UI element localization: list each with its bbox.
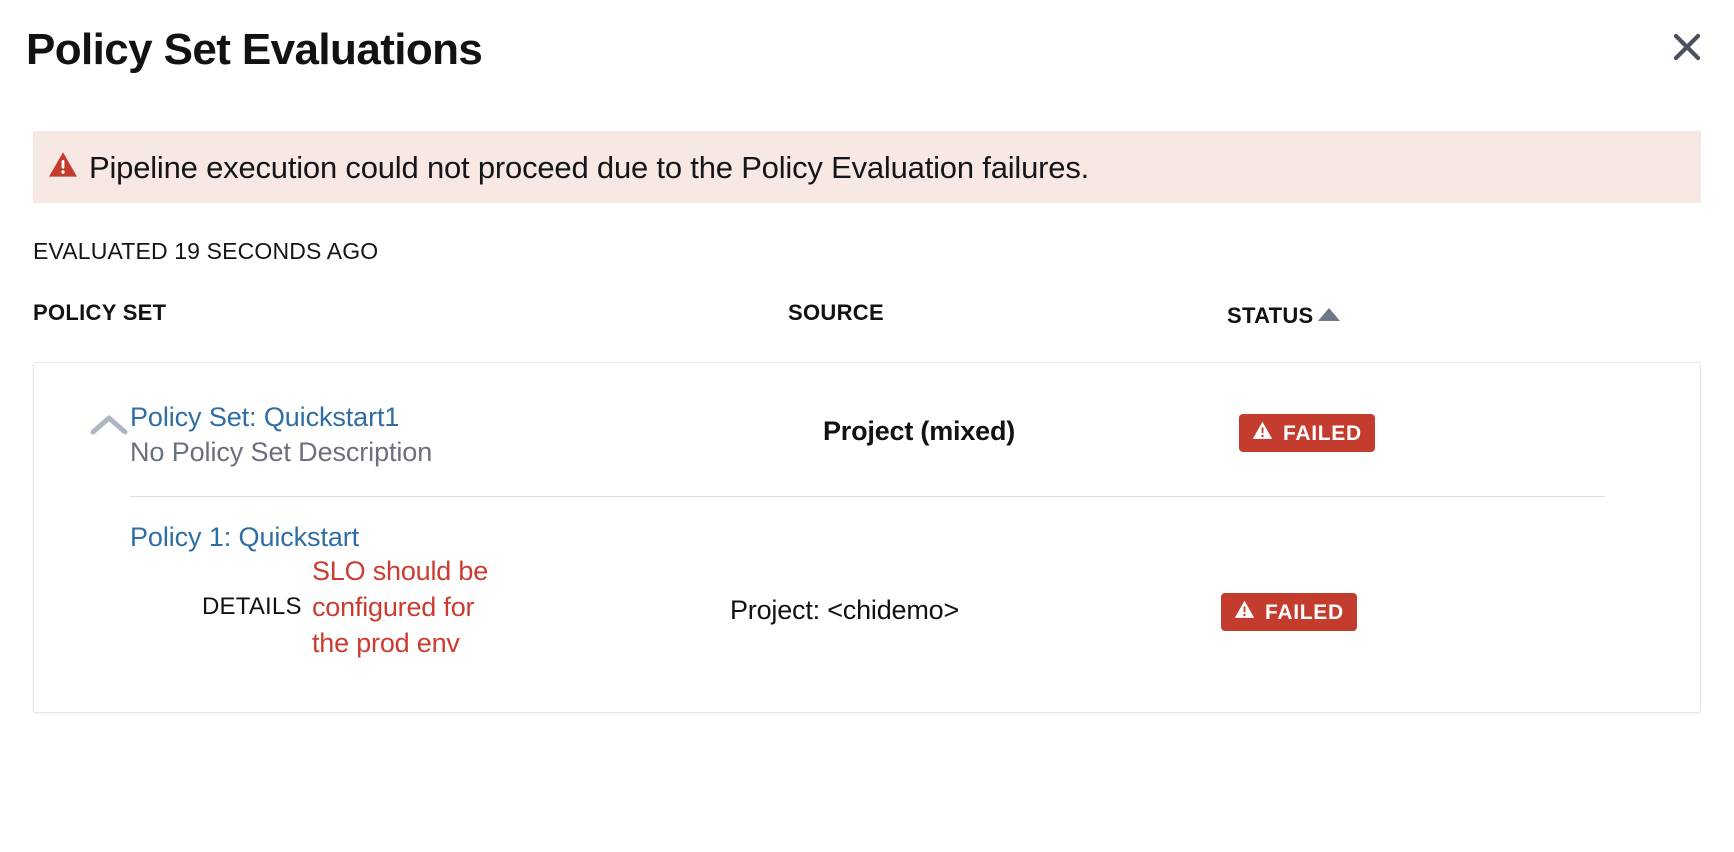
- status-badge-label: FAILED: [1265, 602, 1344, 623]
- policy-source: Project: <chidemo>: [730, 597, 959, 624]
- column-header-policy-set[interactable]: POLICY SET: [33, 302, 166, 324]
- policy-link[interactable]: Policy 1: Quickstart: [130, 521, 359, 555]
- policy-set-description: No Policy Set Description: [130, 436, 432, 470]
- modal-header: Policy Set Evaluations: [0, 0, 1734, 112]
- policy-set-status-cell: FAILED: [1239, 414, 1375, 452]
- close-icon: [1672, 32, 1702, 62]
- chevron-up-icon: [90, 413, 128, 440]
- page-title: Policy Set Evaluations: [26, 28, 482, 72]
- status-badge: FAILED: [1221, 593, 1357, 631]
- evaluated-timestamp: EVALUATED 19 SECONDS AGO: [33, 238, 378, 266]
- warning-triangle-icon: [1252, 421, 1273, 445]
- table-header-row: POLICY SET SOURCE STATUS: [0, 296, 1734, 344]
- close-button[interactable]: [1664, 24, 1710, 70]
- expand-collapse-toggle[interactable]: [88, 409, 130, 443]
- policy-set-evaluations-modal: Policy Set Evaluations Pipeline executio…: [0, 0, 1734, 852]
- policy-set-link[interactable]: Policy Set: Quickstart1: [130, 401, 399, 435]
- warning-triangle-icon: [1234, 600, 1255, 624]
- details-label: DETAILS: [202, 595, 302, 619]
- card-divider: [130, 496, 1605, 497]
- status-badge-label: FAILED: [1283, 423, 1362, 444]
- policy-set-source: Project (mixed): [823, 418, 1015, 445]
- error-alert-banner: Pipeline execution could not proceed due…: [33, 131, 1701, 203]
- policy-status-cell: FAILED: [1221, 593, 1357, 631]
- warning-triangle-icon: [48, 151, 78, 183]
- policy-set-summary-row: Policy Set: Quickstart1 No Policy Set De…: [34, 363, 1700, 495]
- column-header-status[interactable]: STATUS: [1227, 305, 1314, 327]
- sort-ascending-arrow-icon[interactable]: [1318, 308, 1340, 321]
- alert-message: Pipeline execution could not proceed due…: [89, 152, 1089, 183]
- details-message: SLO should be configured for the prod en…: [312, 553, 497, 662]
- status-badge: FAILED: [1239, 414, 1375, 452]
- policy-set-result-card: Policy Set: Quickstart1 No Policy Set De…: [33, 362, 1701, 713]
- column-header-source[interactable]: SOURCE: [788, 302, 884, 324]
- policy-row: Policy 1: Quickstart DETAILS SLO should …: [34, 511, 1700, 701]
